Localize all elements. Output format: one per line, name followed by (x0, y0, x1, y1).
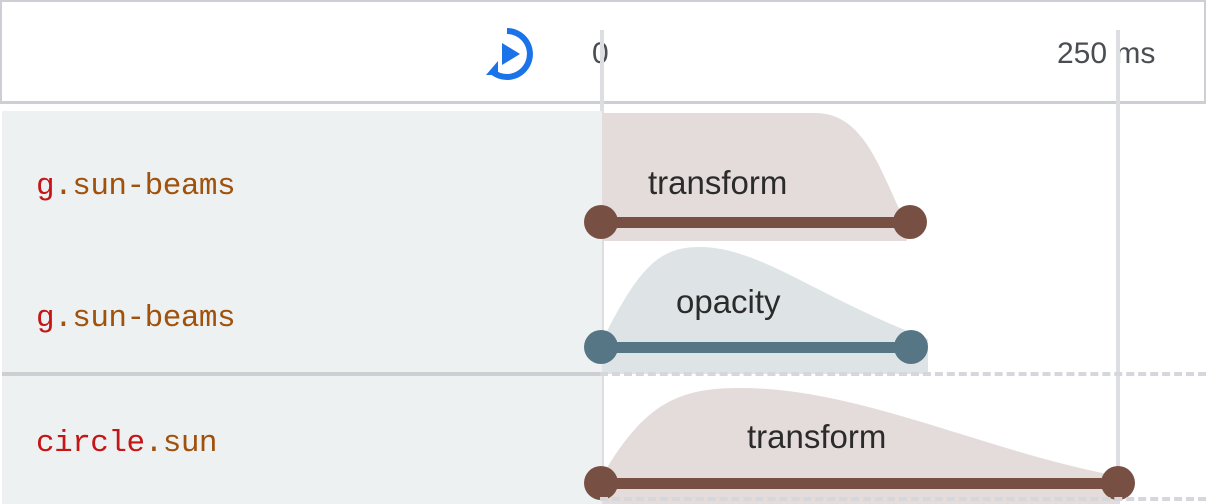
selector-tag: g (36, 301, 54, 336)
keyframe-start-handle[interactable] (584, 466, 618, 500)
replay-icon (476, 23, 538, 85)
property-label: opacity (676, 283, 781, 321)
property-label: transform (648, 164, 787, 202)
animation-row[interactable]: g.sun-beams opacity (0, 241, 1206, 374)
selector-class: .sun-beams (54, 301, 235, 336)
row-selector: g.sun-beams (36, 301, 235, 336)
selector-class: .sun-beams (54, 169, 235, 204)
keyframe-end-handle[interactable] (894, 330, 928, 364)
animation-row[interactable]: circle.sun transform (0, 376, 1206, 504)
keyframe-end-handle[interactable] (1101, 466, 1135, 500)
keyframe-start-handle[interactable] (584, 330, 618, 364)
keyframe-end-handle[interactable] (893, 205, 927, 239)
row-selector: g.sun-beams (36, 169, 235, 204)
replay-button[interactable] (475, 22, 539, 86)
animation-rows: g.sun-beams transform g.sun-beams (0, 104, 1206, 504)
animations-panel: 0 250 ms g.sun-beams transform (0, 0, 1206, 504)
selector-tag: g (36, 169, 54, 204)
animation-row[interactable]: g.sun-beams transform (0, 111, 1206, 241)
selector-class: .sun (145, 426, 217, 461)
keyframe-bar[interactable] (601, 217, 910, 228)
row-separator-dashed (600, 497, 1206, 501)
row-selector: circle.sun (36, 426, 217, 461)
selector-tag: circle (36, 426, 145, 461)
timeline-end-label: 250 ms (1057, 39, 1155, 69)
keyframe-bar[interactable] (601, 478, 1118, 489)
keyframe-bar[interactable] (601, 342, 911, 353)
property-label: transform (747, 418, 886, 456)
keyframe-start-handle[interactable] (584, 205, 618, 239)
